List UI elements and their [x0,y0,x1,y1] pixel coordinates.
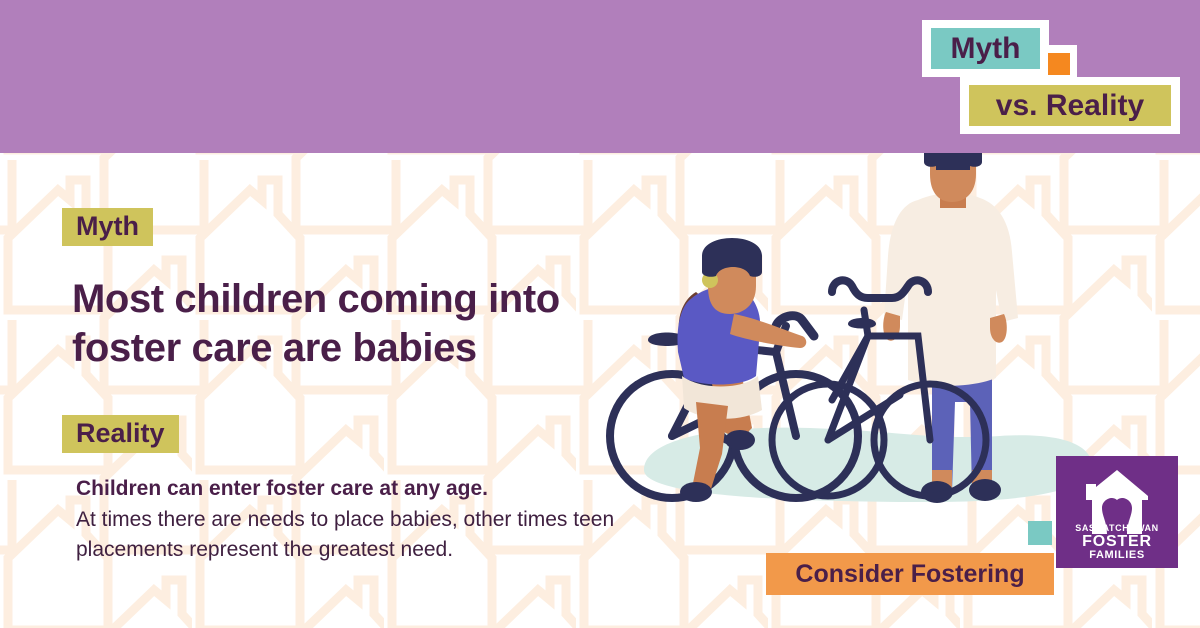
adult-bike-seat [848,318,876,329]
logo-line-saskatchewan: SASKATCHEWAN [1056,523,1178,533]
reality-tag: Reality [62,415,179,453]
teal-square-accent [1028,521,1052,545]
poster-canvas: Fostering Myth vs. Reality Myth Most chi… [0,0,1200,628]
reality-detail-text: At times there are needs to place babies… [76,505,696,565]
orange-square-accent [1048,53,1070,75]
badge-myth-label: Myth [931,28,1040,69]
main-content: Myth Most children coming into foster ca… [0,153,700,628]
myth-statement: Most children coming into foster care ar… [72,275,662,373]
myth-tag: Myth [62,208,153,246]
reality-lead-text: Children can enter foster care at any ag… [76,475,696,503]
myth-vs-reality-badge: Myth vs. Reality [912,20,1180,134]
consider-fostering-button[interactable]: Consider Fostering [766,553,1054,595]
reality-body: Children can enter foster care at any ag… [76,475,696,565]
badge-reality-label: vs. Reality [969,85,1171,126]
saskatchewan-foster-families-logo[interactable]: SASKATCHEWAN FOSTER FAMILIES [1056,456,1178,568]
logo-line-families: FAMILIES [1056,549,1178,561]
